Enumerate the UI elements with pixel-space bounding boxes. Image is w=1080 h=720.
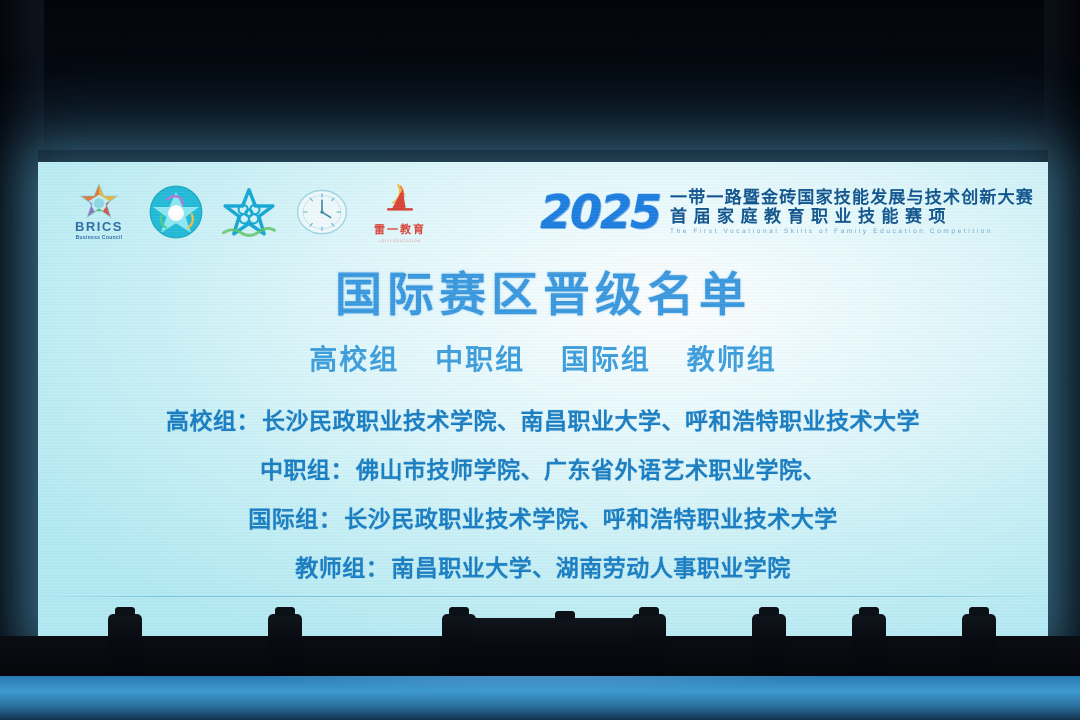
- list-item-label: 国际组：: [248, 506, 342, 532]
- event-year: 2025: [540, 189, 660, 235]
- auditorium-stage-scene: BRICS Business Council: [0, 0, 1080, 720]
- star-emblem-logo: [148, 184, 204, 240]
- sponsor-logo-row: BRICS Business Council: [66, 181, 436, 243]
- leiyi-education-logo: 雷一教育 LEIYI EDUCATION: [364, 181, 436, 243]
- event-title-line1: 一带一路暨金砖国家技能发展与技术创新大赛: [670, 189, 1034, 206]
- list-item: 中职组：佛山市技师学院、广东省外语艺术职业学院、: [38, 451, 1048, 485]
- event-title-lockup: 2025 一带一路暨金砖国家技能发展与技术创新大赛 首届家庭教育职业技能赛项 T…: [540, 189, 1034, 235]
- stage-light-fixture: [962, 614, 996, 676]
- brics-star-icon: [79, 183, 119, 219]
- brics-wordmark: BRICS: [66, 220, 132, 234]
- slide-main-title: 国际赛区晋级名单: [38, 256, 1048, 325]
- clock-emblem-logo: [292, 184, 348, 240]
- wall-backdrop-top: [0, 0, 1080, 162]
- group-category-row: 高校组 中职组 国际组 教师组: [38, 338, 1048, 378]
- group-label-college: 高校组: [309, 344, 399, 375]
- brics-business-council-logo: BRICS Business Council: [66, 183, 132, 241]
- wall-backdrop-right: [1044, 0, 1080, 660]
- advancing-schools-list: 高校组：长沙民政职业技术学院、南昌职业大学、呼和浩特职业技术大学 中职组：佛山市…: [38, 402, 1048, 598]
- led-presentation-screen: BRICS Business Council: [38, 162, 1048, 640]
- group-label-international: 国际组: [561, 344, 651, 375]
- list-item-label: 教师组：: [295, 555, 389, 581]
- slide-header: BRICS Business Council: [38, 178, 1048, 246]
- stage-light-fixture: [752, 614, 786, 676]
- event-title-english: The First Vocational Skills of Family Ed…: [670, 229, 1034, 236]
- brics-subtitle: Business Council: [66, 235, 132, 241]
- list-item-schools: 长沙民政职业技术学院、呼和浩特职业技术大学: [344, 506, 838, 532]
- list-item-schools: 南昌职业大学、湖南劳动人事职业学院: [391, 555, 791, 581]
- list-item: 教师组：南昌职业大学、湖南劳动人事职业学院: [38, 549, 1048, 583]
- event-title-line2: 首届家庭教育职业技能赛项: [670, 208, 1034, 225]
- stage-light-fixture: [852, 614, 886, 676]
- list-item-label: 中职组：: [260, 457, 354, 483]
- group-label-teacher: 教师组: [687, 344, 777, 375]
- knot-star-emblem-logo: [220, 184, 276, 240]
- list-item: 高校组：长沙民政职业技术学院、南昌职业大学、呼和浩特职业技术大学: [38, 402, 1048, 436]
- stage-light-fixture: [632, 614, 666, 676]
- list-item-label: 高校组：: [166, 408, 260, 434]
- stage-light-fixture: [108, 614, 142, 676]
- slide-divider: [38, 596, 1048, 597]
- stage-light-fixture: [268, 614, 302, 676]
- leiyi-subtitle: LEIYI EDUCATION: [364, 238, 436, 243]
- list-item-schools: 佛山市技师学院、广东省外语艺术职业学院、: [356, 457, 826, 483]
- list-item-schools: 长沙民政职业技术学院、南昌职业大学、呼和浩特职业技术大学: [262, 408, 920, 434]
- leiyi-wordmark: 雷一教育: [364, 221, 436, 237]
- group-label-vocational: 中职组: [435, 344, 525, 375]
- event-title-text: 一带一路暨金砖国家技能发展与技术创新大赛 首届家庭教育职业技能赛项 The Fi…: [670, 189, 1034, 235]
- list-item: 国际组：长沙民政职业技术学院、呼和浩特职业技术大学: [38, 500, 1048, 534]
